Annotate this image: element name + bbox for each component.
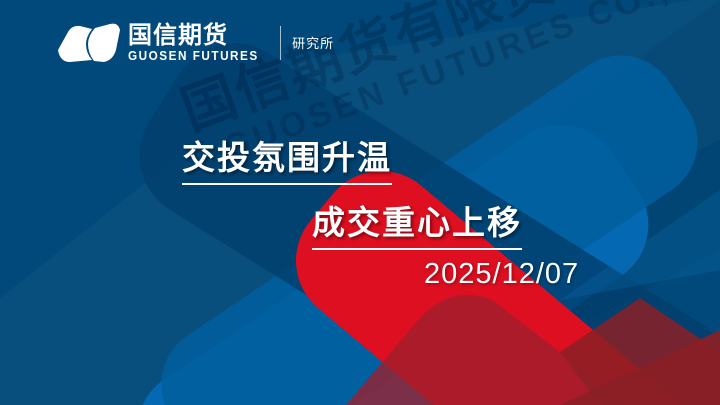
logo-wordmark: 国信期货 GUOSEN FUTURES xyxy=(128,23,267,64)
band-red-corner xyxy=(560,330,720,405)
logo-company-cn: 国信期货 xyxy=(128,23,267,49)
title-line-1-text: 交投氛围升温 xyxy=(182,131,392,185)
title-line-2-text: 成交重心上移 xyxy=(312,196,522,250)
highlight-sliver xyxy=(560,190,720,300)
logo-company-en: GUOSEN FUTURES xyxy=(128,50,259,64)
logo-department: 研究所 xyxy=(292,33,334,54)
band-red-overlap xyxy=(346,295,720,405)
logo-divider xyxy=(280,26,281,60)
title-line-2: 成交重心上移 xyxy=(312,196,522,250)
title-slide: 国信期货有限责任公司 GUOSEN FUTURES CO.,LTD. 国信期货 … xyxy=(0,0,720,405)
brand-logo: 国信期货 GUOSEN FUTURES 研究所 xyxy=(56,16,334,70)
title-line-1: 交投氛围升温 xyxy=(182,131,392,185)
slide-date: 2025/12/07 xyxy=(424,258,579,291)
guosen-logo-mark-icon xyxy=(56,20,122,66)
